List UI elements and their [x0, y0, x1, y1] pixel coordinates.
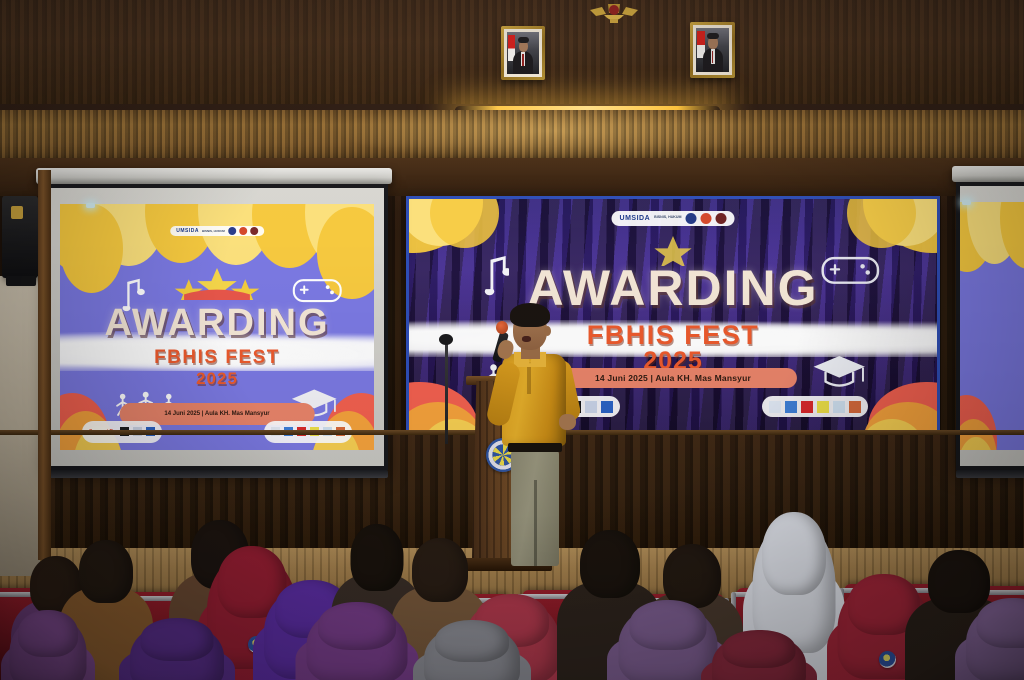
- attendee-head-covered: [977, 598, 1024, 648]
- sponsor-logo-4-icon: [817, 401, 829, 413]
- left-projection-screen[interactable]: UMSIDA BISNIS, HUKUM: [46, 184, 388, 470]
- sponsor-logo-6-icon: [849, 401, 861, 413]
- partner-logo-3-icon: [715, 213, 726, 224]
- projector-status-led-right: [962, 200, 971, 205]
- partner-logo-2-icon: [700, 213, 711, 224]
- portrait-mat: [504, 29, 542, 77]
- microphone-head-icon: [496, 321, 508, 334]
- game-controller-icon: [289, 275, 346, 305]
- supporter-logo-3-icon: [601, 401, 613, 413]
- sponsor-logo-3-icon: [801, 401, 813, 413]
- faculty-name-text: BISNIS, HUKUM: [654, 216, 681, 220]
- portrait-tie: [712, 51, 714, 63]
- sponsor-logo-2-icon: [785, 401, 797, 413]
- audience-seating-area: [0, 470, 1024, 680]
- projected-poster-left: UMSIDA BISNIS, HUKUM: [60, 204, 374, 450]
- garuda-pancasila-icon: [586, 1, 642, 27]
- banner-title-sub: FBHIS FEST: [587, 320, 760, 351]
- auditorium-photo: UMSIDA BISNIS, HUKUM: [0, 0, 1024, 680]
- partner-logo-1-icon: [228, 227, 236, 235]
- projector-status-led: [86, 203, 95, 208]
- poster-title-year: 2025: [196, 369, 238, 389]
- audience-attendee-17: [118, 618, 236, 680]
- attendee-head-covered: [723, 630, 796, 668]
- right-screen-surface: [960, 186, 1024, 466]
- poster-title-sub: FBHIS FEST: [154, 347, 280, 369]
- wall-mounted-loudspeaker: [2, 196, 38, 278]
- partner-logo-1-icon: [685, 213, 696, 224]
- attendee-head-covered: [141, 618, 214, 661]
- poster-title-main: AWARDING: [105, 302, 330, 345]
- ceiling-light-glow: [340, 110, 760, 162]
- left-screen-housing: [36, 168, 392, 184]
- banner-game-controller-icon: [816, 252, 885, 287]
- official-portrait-right: [690, 22, 735, 78]
- attendee-head-covered: [18, 610, 78, 657]
- audience-attendee-20: [700, 630, 818, 680]
- left-screen-surface: UMSIDA BISNIS, HUKUM: [50, 188, 384, 466]
- portrait-mat: [693, 25, 732, 75]
- attendee-head: [663, 544, 721, 608]
- floor-microphone-head-icon: [439, 334, 453, 345]
- right-screen-housing: [952, 166, 1024, 182]
- banner-graduation-cap-icon: [805, 352, 874, 391]
- speaker-badge: [11, 206, 23, 219]
- stars-decoration: [145, 268, 289, 300]
- faculty-name-text: BISNIS, HUKUM: [202, 230, 225, 233]
- portrait-photo: [696, 28, 729, 72]
- attendee-head-covered: [630, 600, 707, 650]
- projected-poster-right: [960, 202, 1024, 450]
- speaker-hair: [510, 303, 550, 327]
- audience-attendee-19: [412, 620, 532, 680]
- umsida-logo-text: UMSIDA: [176, 228, 199, 234]
- speaker-mouth: [522, 336, 531, 342]
- sponsor-logo-1-icon: [769, 401, 781, 413]
- attendee-head: [412, 538, 468, 602]
- speaker-belt: [508, 443, 562, 452]
- attendee-head-covered: [318, 602, 396, 650]
- attendee-head-covered: [762, 512, 826, 595]
- right-projection-screen[interactable]: [956, 182, 1024, 470]
- speaker-bracket: [6, 276, 36, 286]
- partner-logo-2-icon: [239, 227, 247, 235]
- official-portrait-left: [501, 26, 545, 80]
- top-cloud-cluster: [960, 202, 1024, 259]
- ceiling-wood-band: [0, 110, 1024, 162]
- portrait-tie: [522, 54, 524, 66]
- audience-attendee-8: [294, 602, 420, 680]
- bottom-cloud-cluster: [960, 395, 1024, 450]
- speaker-ear: [544, 326, 551, 336]
- banner-logo-bar: UMSIDA BISNIS, HUKUM: [612, 211, 735, 226]
- portrait-peci-cap: [707, 33, 719, 39]
- portrait-peci-cap: [518, 37, 530, 43]
- top-cloud-cluster: [60, 204, 374, 270]
- poster-logo-bar: UMSIDA BISNIS, HUKUM: [170, 226, 264, 236]
- audience-attendee-18: [0, 610, 96, 680]
- partner-logo-3-icon: [250, 227, 258, 235]
- floor-microphone-stand: [445, 342, 448, 444]
- umsida-logo-text: UMSIDA: [620, 215, 651, 222]
- attendee-head-covered: [435, 620, 509, 662]
- attendee-organization-badge-icon: [879, 651, 896, 668]
- portrait-photo: [507, 32, 539, 74]
- attendee-head: [580, 530, 640, 598]
- attendee-head: [79, 540, 133, 603]
- sponsor-logo-5-icon: [833, 401, 845, 413]
- audience-attendee-16: [954, 598, 1024, 680]
- banner-music-note-icon: [472, 255, 509, 297]
- speaker-right-hand: [559, 414, 576, 430]
- banner-sponsor-logos-pill: [762, 396, 868, 417]
